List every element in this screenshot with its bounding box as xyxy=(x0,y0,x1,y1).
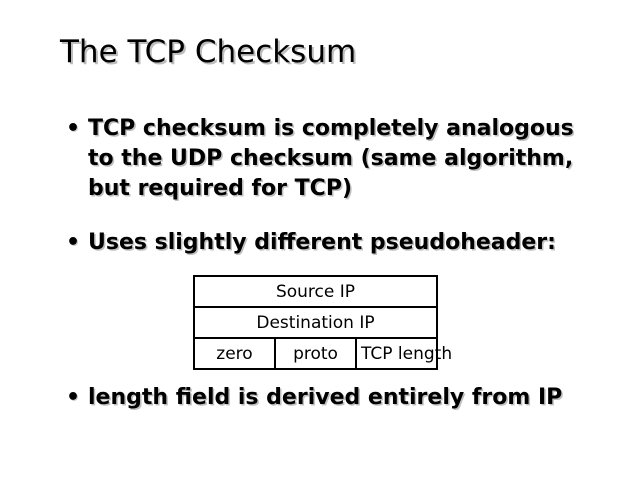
bullet-point-icon: • xyxy=(66,228,88,258)
list-item-text: TCP checksum is completely analogous to … xyxy=(88,114,574,204)
table-cell-zero: zero xyxy=(194,338,275,369)
table-row: Source IP xyxy=(194,276,437,307)
table-row: Destination IP xyxy=(194,307,437,338)
page-title: The TCP Checksum xyxy=(60,33,356,71)
list-item-text: Uses slightly different pseudoheader: xyxy=(88,228,556,258)
list-item-text: length field is derived entirely from IP xyxy=(88,383,562,413)
list-item: • Uses slightly different pseudoheader: xyxy=(66,228,586,258)
list-item: • length field is derived entirely from … xyxy=(66,383,586,413)
bullet-point-icon: • xyxy=(66,383,88,413)
list-item: • TCP checksum is completely analogous t… xyxy=(66,114,586,204)
bullet-point-icon: • xyxy=(66,114,88,144)
table-row: zero proto TCP length xyxy=(194,338,437,369)
table-cell-destination-ip: Destination IP xyxy=(194,307,437,338)
slide-canvas: The TCP Checksum • TCP checksum is compl… xyxy=(0,0,640,480)
table-cell-source-ip: Source IP xyxy=(194,276,437,307)
table-cell-tcp-length: TCP length xyxy=(356,338,437,369)
table-cell-proto: proto xyxy=(275,338,356,369)
pseudoheader-table: Source IP Destination IP zero proto TCP … xyxy=(193,275,438,370)
